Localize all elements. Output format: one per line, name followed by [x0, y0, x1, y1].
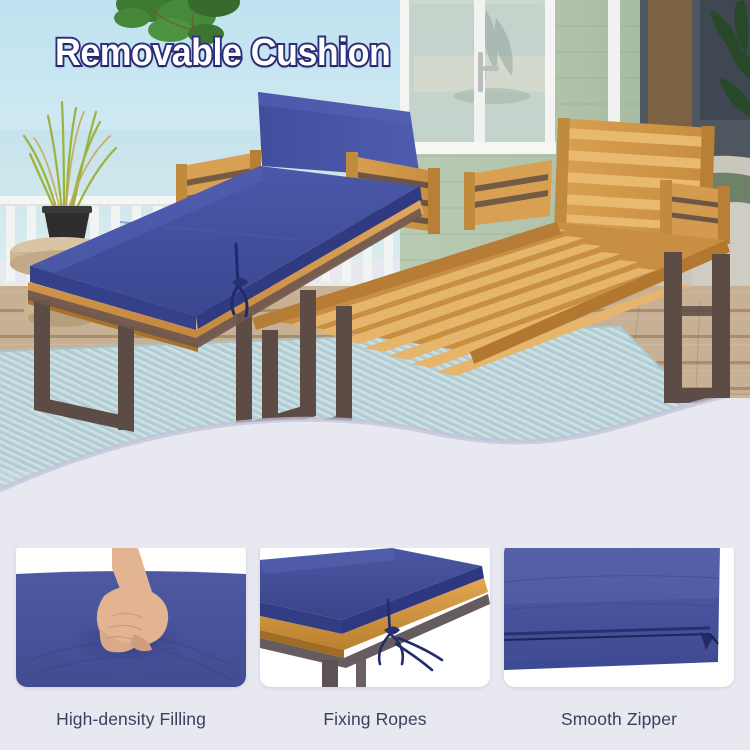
feature-card-smooth-zipper[interactable]: Smooth Zipper [504, 542, 734, 730]
cushion-tie-rope-photo [260, 542, 490, 687]
hero-title-wrap: Removable Cushion [55, 34, 412, 74]
feature-caption-2: Fixing Ropes [323, 709, 426, 730]
feature-card-fixing-ropes[interactable]: Fixing Ropes [260, 542, 490, 730]
feature-caption-1: High-density Filling [56, 709, 206, 730]
feature-image-card-3[interactable] [504, 542, 734, 687]
product-feature-graphic: Removable Cushion [0, 0, 750, 750]
feature-caption-3: Smooth Zipper [561, 709, 677, 730]
feature-card-high-density-filling[interactable]: High-density Filling [16, 542, 246, 730]
features-panel: High-density Filling [0, 500, 750, 750]
feature-image-card-1[interactable] [16, 542, 246, 687]
hand-pressing-cushion-photo [16, 542, 246, 687]
hero-scene-illustration [0, 0, 750, 520]
hero-photo: Removable Cushion [0, 0, 750, 520]
feature-cards: High-density Filling [0, 542, 750, 730]
cushion-zipper-photo [504, 542, 734, 687]
feature-image-card-2[interactable] [260, 542, 490, 687]
page-title: Removable Cushion [55, 34, 390, 74]
